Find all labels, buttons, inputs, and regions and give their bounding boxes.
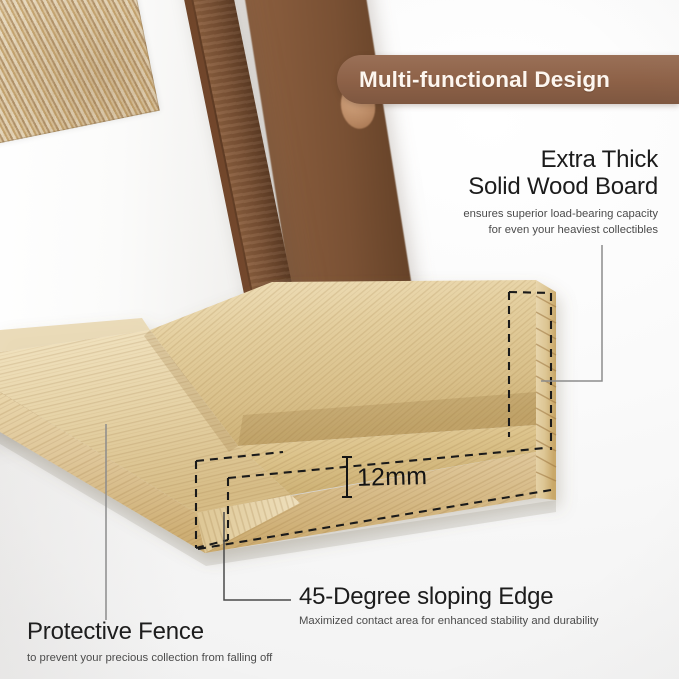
product-infographic: 12mm Multi-functional Design Extra Thick… [0,0,679,679]
vignette-overlay [0,0,679,679]
